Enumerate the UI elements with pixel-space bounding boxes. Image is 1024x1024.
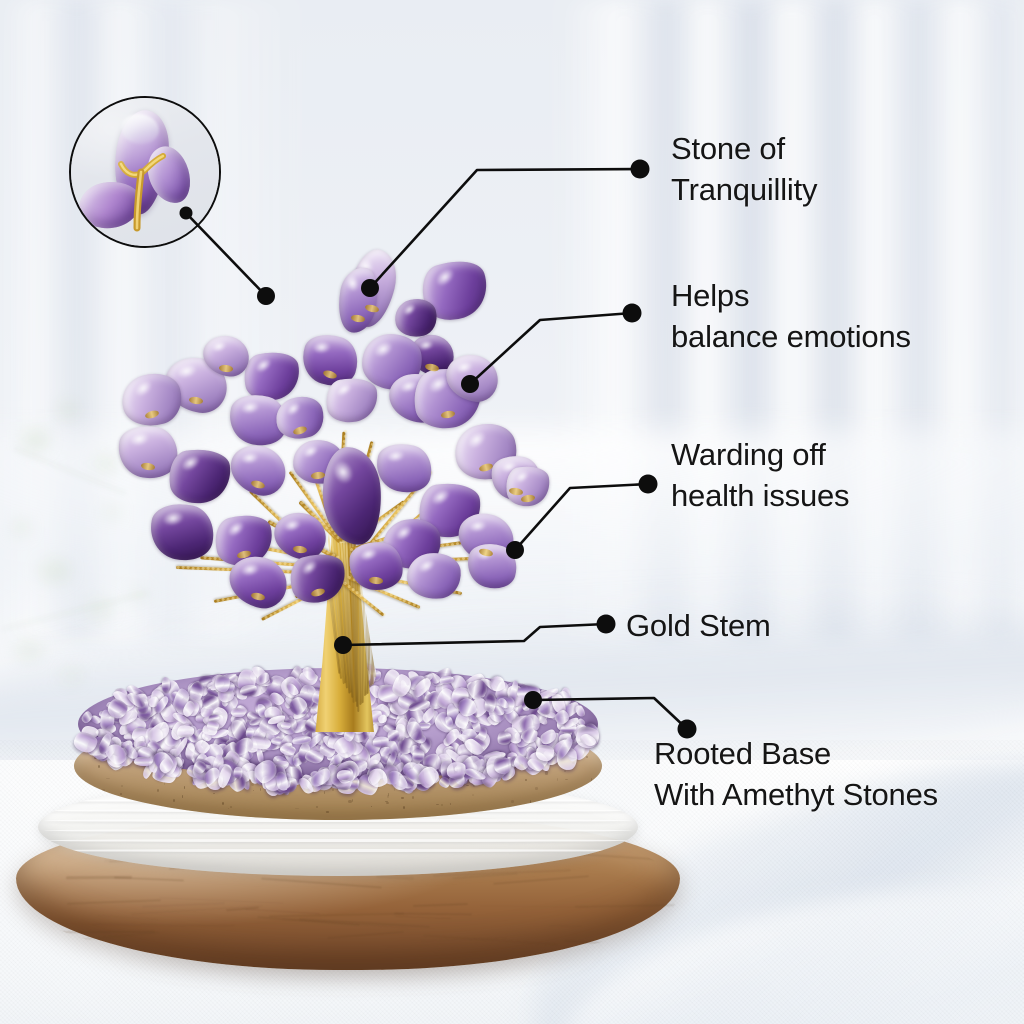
magnifier-glare: [71, 98, 219, 246]
magnifier-inset: [69, 96, 221, 248]
infographic-canvas: Stone of Tranquillity Helps balance emot…: [0, 0, 1024, 1024]
callout-label-warding-off-health-issues: Warding off health issues: [671, 434, 849, 516]
callout-label-helps-balance-emotions: Helps balance emotions: [671, 275, 911, 357]
callout-label-stone-of-tranquillity: Stone of Tranquillity: [671, 128, 817, 210]
callout-label-rooted-base: Rooted Base With Amethyt Stones: [654, 733, 938, 815]
callout-label-gold-stem: Gold Stem: [626, 605, 771, 646]
